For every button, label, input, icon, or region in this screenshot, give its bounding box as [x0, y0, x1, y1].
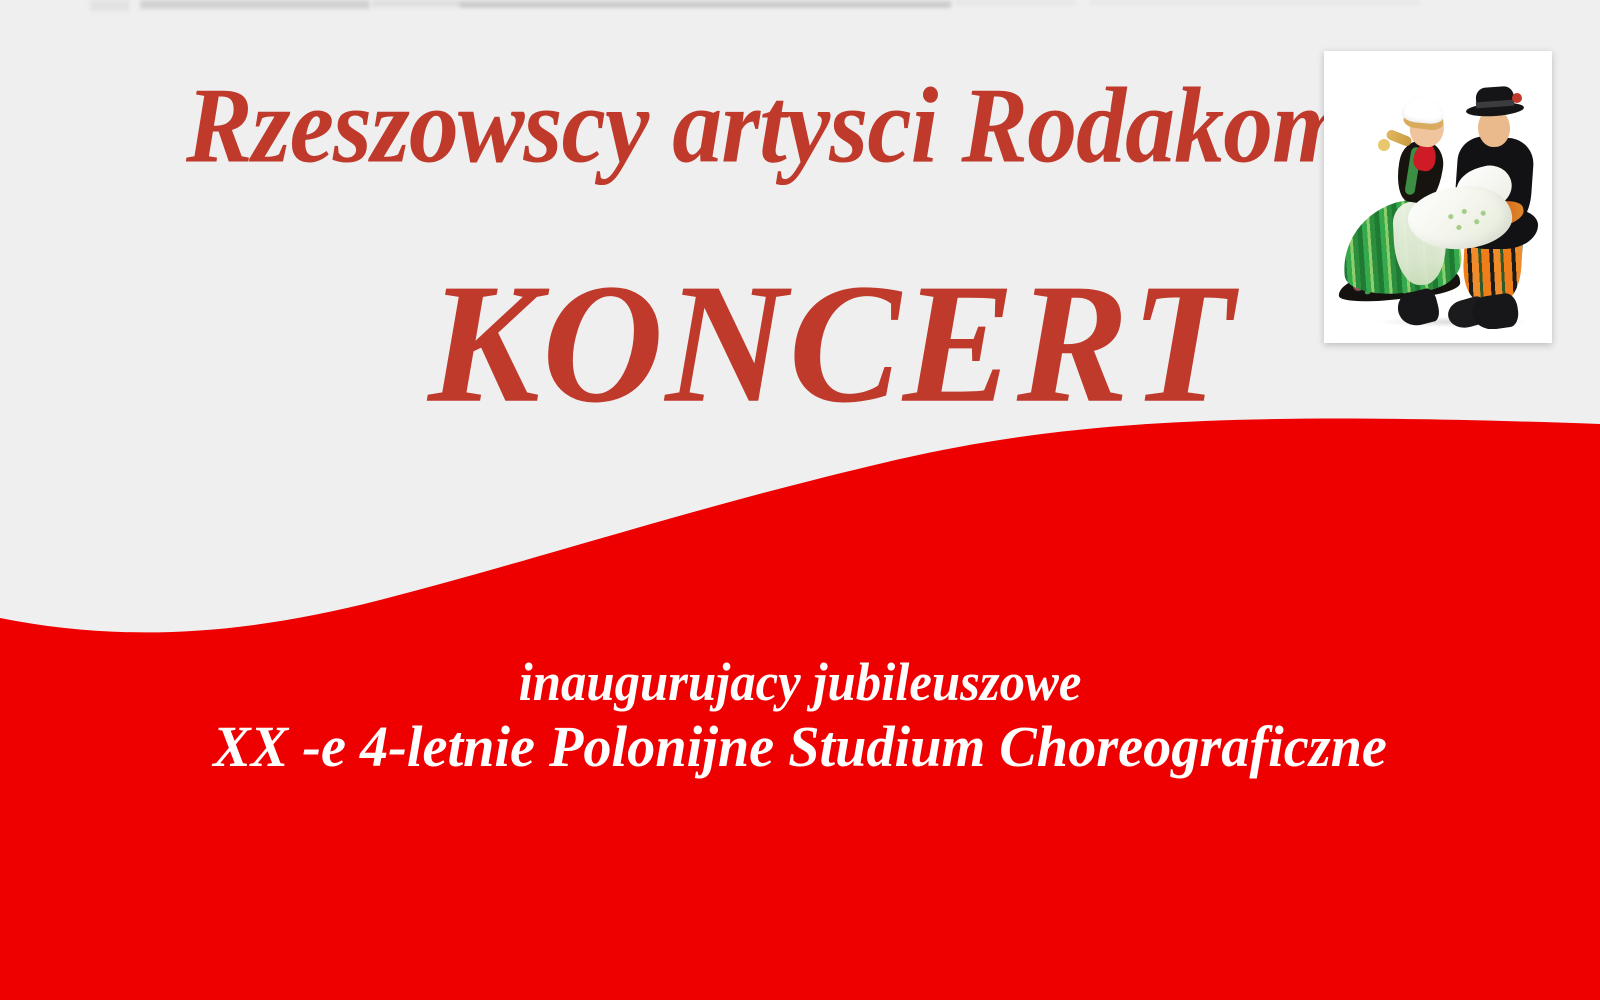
woman-braid-tip	[1378, 139, 1390, 151]
page-title: Rzeszowscy artysci Rodakom	[186, 72, 1349, 180]
man-hat-ornament	[1512, 93, 1522, 103]
event-title: KONCERT	[428, 258, 1236, 429]
photo-frame	[1324, 51, 1552, 343]
subtitle-line-two: XX -e 4-letnie Polonijne Studium Choreog…	[24, 718, 1576, 776]
sleeve-embroidery	[1440, 203, 1494, 237]
poster-canvas: Rzeszowscy artysci Rodakom KONCERT inaug…	[0, 0, 1600, 1000]
subtitle-line-one: inaugurujacy jubileuszowe	[48, 655, 1552, 709]
folk-dancers-photo	[1336, 63, 1542, 329]
